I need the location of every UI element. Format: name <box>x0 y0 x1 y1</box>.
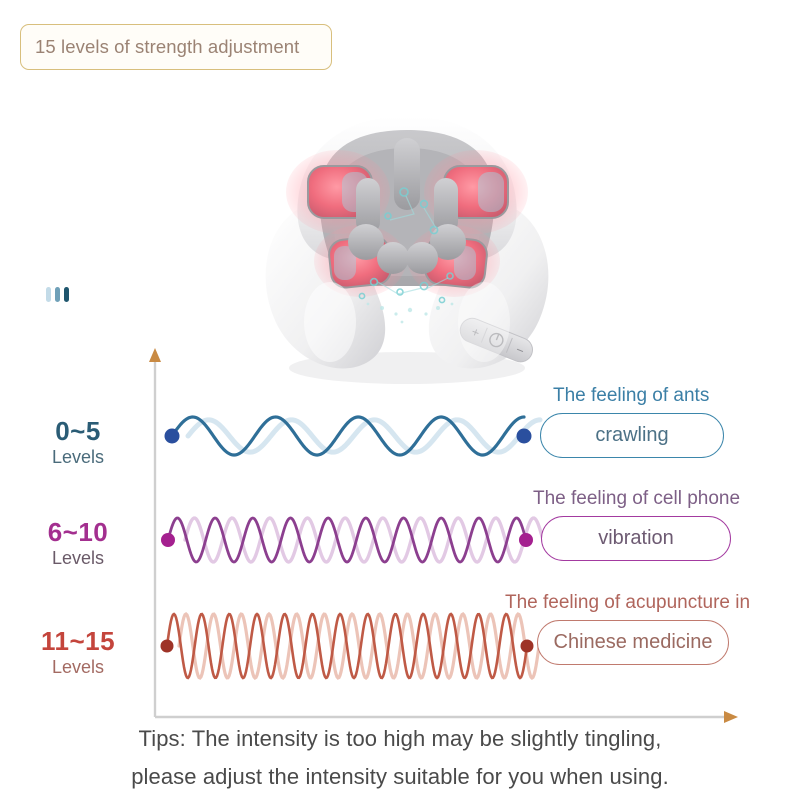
page-title: 15 levels of strength adjustment <box>35 36 299 58</box>
signal-strength-icon <box>46 286 82 302</box>
level-unit: Levels <box>14 448 142 467</box>
level-range: 0~5 <box>14 418 142 445</box>
level-label-6-10: 6~10 Levels <box>14 519 142 568</box>
level-label-0-5: 0~5 Levels <box>14 418 142 467</box>
waveform-level-2 <box>161 614 540 678</box>
waveform-end-dot <box>521 640 534 653</box>
tips-line-1: Tips: The intensity is too high may be s… <box>0 720 800 758</box>
waveform-end-dot <box>517 429 532 444</box>
callout-caption: The feeling of acupuncture in <box>505 592 750 614</box>
waveform-level-1 <box>161 518 543 562</box>
tips-line-2: please adjust the intensity suitable for… <box>0 758 800 796</box>
level-range: 11~15 <box>14 628 142 655</box>
title-badge: 15 levels of strength adjustment <box>20 24 332 70</box>
callout-pill: vibration <box>541 516 731 561</box>
waveform-start-dot <box>161 533 175 547</box>
callout-pill-label: crawling <box>595 424 668 447</box>
waveform-end-dot <box>519 533 533 547</box>
level-unit: Levels <box>14 658 142 677</box>
waveform-start-dot <box>165 429 180 444</box>
waveform-start-dot <box>161 640 174 653</box>
signal-bar-3 <box>46 287 51 302</box>
callout-pill-label: Chinese medicine <box>554 631 713 654</box>
callout-pill-label: vibration <box>598 527 674 550</box>
level-label-11-15: 11~15 Levels <box>14 628 142 677</box>
tips-block: Tips: The intensity is too high may be s… <box>0 720 800 796</box>
infographic-page: 15 levels of strength adjustment <box>0 0 800 800</box>
callout-caption: The feeling of ants <box>553 385 709 407</box>
callout-pill: crawling <box>540 413 724 458</box>
y-axis-arrow-icon <box>149 348 161 362</box>
signal-bar-2 <box>55 287 60 302</box>
level-unit: Levels <box>14 549 142 568</box>
callout-caption: The feeling of cell phone <box>533 488 740 510</box>
callout-pill: Chinese medicine <box>537 620 729 665</box>
product-image-neck-massager: + − <box>238 96 576 386</box>
level-range: 6~10 <box>14 519 142 546</box>
waveform-level-0 <box>165 417 541 455</box>
signal-bar-1 <box>64 287 69 302</box>
